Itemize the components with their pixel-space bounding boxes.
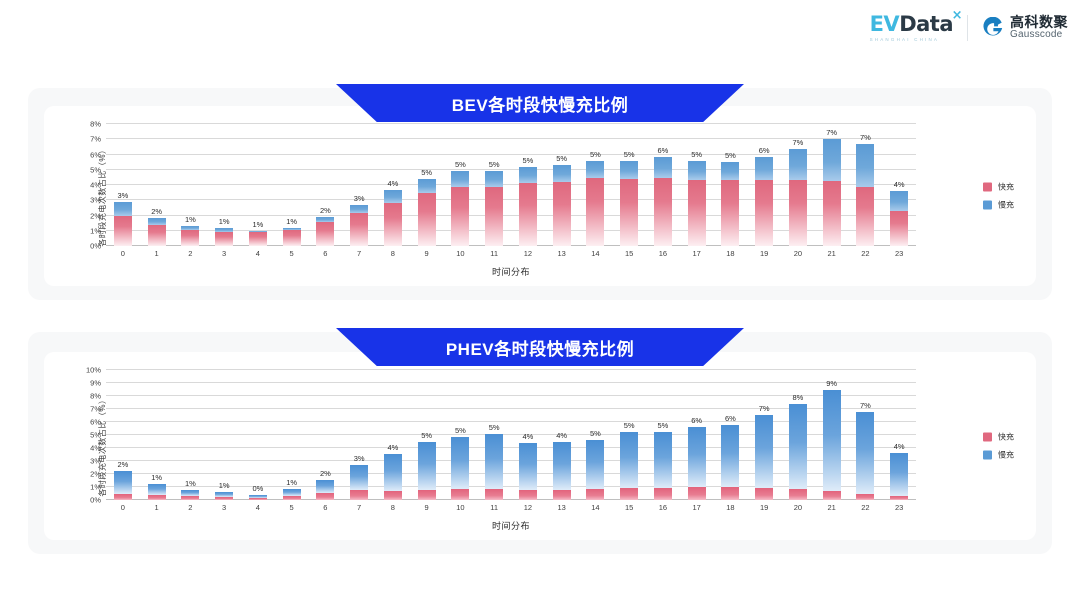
bar-column[interactable]: 0% xyxy=(241,370,275,500)
y-axis-tick: 10% xyxy=(86,366,101,375)
legend-item[interactable]: 慢充 xyxy=(983,200,1014,211)
x-axis-tick: 3 xyxy=(207,503,241,519)
bar-segment-fast-charge[interactable] xyxy=(586,489,604,500)
bar-data-label: 7% xyxy=(792,138,803,147)
bar-segment-fast-charge[interactable] xyxy=(890,211,908,246)
bar-segment-fast-charge[interactable] xyxy=(384,491,402,500)
x-axis-tick: 7 xyxy=(342,503,376,519)
banner-phev-title: PHEV各时段快慢充比例 xyxy=(446,335,634,360)
x-axis-tick: 9 xyxy=(410,503,444,519)
y-axis-tick: 0% xyxy=(90,496,101,505)
x-axis-tick: 23 xyxy=(882,503,916,519)
legend-label: 慢充 xyxy=(998,450,1014,461)
bar-column[interactable]: 3% xyxy=(106,124,140,246)
x-axis-tick: 4 xyxy=(241,249,275,265)
bar-column[interactable]: 2% xyxy=(309,124,343,246)
bar-column[interactable]: 5% xyxy=(444,370,478,500)
bar-segment-fast-charge[interactable] xyxy=(755,180,773,246)
stacked-bar[interactable]: 5% xyxy=(654,432,672,500)
bar-data-label: 1% xyxy=(219,481,230,490)
y-axis-tick: 5% xyxy=(90,431,101,440)
bar-data-label: 2% xyxy=(320,206,331,215)
stacked-bar[interactable]: 6% xyxy=(654,157,672,246)
stacked-bar[interactable]: 1% xyxy=(181,490,199,500)
evdata-logo: EVData× shanghai china xyxy=(870,14,953,42)
x-axis-tick: 9 xyxy=(410,249,444,265)
bar-data-label: 6% xyxy=(759,146,770,155)
bar-data-label: 6% xyxy=(725,414,736,423)
bar-data-label: 1% xyxy=(219,217,230,226)
stacked-bar[interactable]: 6% xyxy=(721,425,739,500)
bar-column[interactable]: 7% xyxy=(781,124,815,246)
bar-data-label: 5% xyxy=(489,423,500,432)
stacked-bar[interactable]: 1% xyxy=(283,228,301,246)
bar-segment-fast-charge[interactable] xyxy=(451,187,469,246)
x-axis-tick: 20 xyxy=(781,503,815,519)
bar-column[interactable]: 3% xyxy=(342,124,376,246)
bar-segment-fast-charge[interactable] xyxy=(654,178,672,246)
legend-label: 快充 xyxy=(998,432,1014,443)
bar-data-label: 1% xyxy=(151,473,162,482)
bar-column[interactable]: 1% xyxy=(174,370,208,500)
bar-segment-fast-charge[interactable] xyxy=(890,496,908,500)
bar-data-label: 5% xyxy=(455,160,466,169)
bar-column[interactable]: 2% xyxy=(140,124,174,246)
bar-column[interactable]: 5% xyxy=(477,124,511,246)
bar-segment-fast-charge[interactable] xyxy=(148,225,166,246)
bar-segment-slow-charge[interactable] xyxy=(418,179,436,193)
bar-segment-fast-charge[interactable] xyxy=(856,187,874,246)
bar-column[interactable]: 1% xyxy=(140,370,174,500)
bar-segment-fast-charge[interactable] xyxy=(586,178,604,246)
bar-segment-slow-charge[interactable] xyxy=(823,390,841,491)
x-axis-tick: 11 xyxy=(477,249,511,265)
stacked-bar[interactable]: 5% xyxy=(418,179,436,246)
x-axis-tick: 8 xyxy=(376,503,410,519)
x-axis-tick: 1 xyxy=(140,249,174,265)
chart-phev-legend: 快充慢充 xyxy=(983,432,1014,461)
bar-segment-fast-charge[interactable] xyxy=(181,496,199,500)
bar-segment-slow-charge[interactable] xyxy=(721,162,739,180)
stacked-bar[interactable]: 1% xyxy=(283,489,301,500)
bar-segment-fast-charge[interactable] xyxy=(688,180,706,246)
bar-column[interactable]: 5% xyxy=(410,124,444,246)
bar-segment-fast-charge[interactable] xyxy=(553,182,571,246)
bar-segment-fast-charge[interactable] xyxy=(688,487,706,500)
bar-segment-fast-charge[interactable] xyxy=(249,498,267,500)
stacked-bar[interactable]: 4% xyxy=(553,442,571,501)
bar-segment-slow-charge[interactable] xyxy=(890,191,908,211)
stacked-bar[interactable]: 4% xyxy=(519,443,537,500)
bar-column[interactable]: 7% xyxy=(747,370,781,500)
bar-column[interactable]: 5% xyxy=(680,124,714,246)
bar-data-label: 5% xyxy=(590,429,601,438)
legend-swatch-icon xyxy=(983,451,992,460)
bar-segment-fast-charge[interactable] xyxy=(418,490,436,500)
bar-segment-slow-charge[interactable] xyxy=(755,157,773,181)
chart-bev-bars: 3%2%1%1%1%1%2%3%4%5%5%5%5%5%5%5%6%5%5%6%… xyxy=(106,124,916,246)
x-axis-tick: 6 xyxy=(309,503,343,519)
chart-phev-plot-area: 0%1%2%3%4%5%6%7%8%9%10% 2%1%1%1%0%1%2%3%… xyxy=(106,370,916,500)
x-axis-tick: 0 xyxy=(106,503,140,519)
stacked-bar[interactable]: 7% xyxy=(856,144,874,246)
stacked-bar[interactable]: 2% xyxy=(114,471,132,500)
bar-segment-slow-charge[interactable] xyxy=(789,149,807,180)
bar-column[interactable]: 5% xyxy=(714,124,748,246)
stacked-bar[interactable]: 5% xyxy=(451,171,469,246)
chart-phev-x-axis-label: 时间分布 xyxy=(106,519,916,532)
x-axis-tick: 18 xyxy=(714,503,748,519)
x-axis-tick: 22 xyxy=(849,503,883,519)
bar-column[interactable]: 5% xyxy=(410,370,444,500)
bar-data-label: 9% xyxy=(826,379,837,388)
bar-column[interactable]: 7% xyxy=(849,124,883,246)
gausscode-text: 高科数聚 Gausscode xyxy=(1010,15,1068,40)
bar-segment-fast-charge[interactable] xyxy=(350,490,368,500)
bar-segment-slow-charge[interactable] xyxy=(283,489,301,496)
bar-segment-slow-charge[interactable] xyxy=(148,484,166,495)
bar-column[interactable]: 4% xyxy=(376,124,410,246)
bar-segment-fast-charge[interactable] xyxy=(823,491,841,500)
y-axis-tick: 9% xyxy=(90,379,101,388)
y-axis-tick: 6% xyxy=(90,418,101,427)
bar-segment-fast-charge[interactable] xyxy=(451,489,469,500)
bar-segment-slow-charge[interactable] xyxy=(890,453,908,496)
bar-segment-slow-charge[interactable] xyxy=(316,480,334,493)
bar-segment-fast-charge[interactable] xyxy=(654,488,672,500)
bar-segment-fast-charge[interactable] xyxy=(620,179,638,246)
chart-bev-plot-area: 0%1%2%3%4%5%6%7%8% 3%2%1%1%1%1%2%3%4%5%5… xyxy=(106,124,916,246)
bar-data-label: 5% xyxy=(421,168,432,177)
x-axis-tick: 20 xyxy=(781,249,815,265)
bar-segment-slow-charge[interactable] xyxy=(654,157,672,178)
bar-segment-fast-charge[interactable] xyxy=(789,489,807,500)
bar-segment-slow-charge[interactable] xyxy=(485,434,503,489)
bar-segment-fast-charge[interactable] xyxy=(316,493,334,500)
stacked-bar[interactable]: 5% xyxy=(586,440,604,500)
stacked-bar[interactable]: 0% xyxy=(249,495,267,500)
evdata-ev-text: EV xyxy=(870,12,900,36)
stacked-bar[interactable]: 7% xyxy=(823,139,841,246)
stacked-bar[interactable]: 2% xyxy=(148,218,166,246)
x-axis-tick: 16 xyxy=(646,249,680,265)
bar-data-label: 5% xyxy=(725,151,736,160)
evdata-wordmark: EVData× xyxy=(870,14,953,35)
bar-segment-fast-charge[interactable] xyxy=(114,494,132,500)
bar-segment-fast-charge[interactable] xyxy=(283,230,301,246)
x-axis-tick: 5 xyxy=(275,503,309,519)
bar-segment-fast-charge[interactable] xyxy=(856,494,874,501)
bar-column[interactable]: 4% xyxy=(376,370,410,500)
bar-column[interactable]: 5% xyxy=(579,124,613,246)
bar-column[interactable]: 6% xyxy=(747,124,781,246)
stacked-bar[interactable]: 5% xyxy=(485,171,503,246)
bar-segment-fast-charge[interactable] xyxy=(755,488,773,500)
bar-segment-slow-charge[interactable] xyxy=(451,171,469,187)
bar-segment-slow-charge[interactable] xyxy=(350,465,368,490)
x-axis-tick: 2 xyxy=(174,503,208,519)
bar-segment-fast-charge[interactable] xyxy=(283,496,301,500)
stacked-bar[interactable]: 1% xyxy=(215,492,233,500)
bar-segment-slow-charge[interactable] xyxy=(485,171,503,187)
bar-segment-slow-charge[interactable] xyxy=(620,432,638,488)
bar-segment-fast-charge[interactable] xyxy=(181,230,199,246)
bar-segment-slow-charge[interactable] xyxy=(384,454,402,491)
bar-segment-fast-charge[interactable] xyxy=(721,180,739,246)
bar-segment-fast-charge[interactable] xyxy=(350,213,368,246)
bar-segment-fast-charge[interactable] xyxy=(519,490,537,500)
bar-segment-fast-charge[interactable] xyxy=(215,232,233,246)
bar-column[interactable]: 3% xyxy=(342,370,376,500)
bar-column[interactable]: 4% xyxy=(882,124,916,246)
gausscode-g-mark-icon xyxy=(982,17,1004,39)
bar-segment-slow-charge[interactable] xyxy=(553,442,571,490)
bar-segment-fast-charge[interactable] xyxy=(823,181,841,246)
gausscode-chinese-name: 高科数聚 xyxy=(1010,15,1068,30)
bar-segment-slow-charge[interactable] xyxy=(688,427,706,487)
stacked-bar[interactable]: 2% xyxy=(316,217,334,246)
bar-column[interactable]: 6% xyxy=(714,370,748,500)
x-axis-tick: 2 xyxy=(174,249,208,265)
bar-segment-slow-charge[interactable] xyxy=(519,167,537,183)
bar-segment-slow-charge[interactable] xyxy=(553,165,571,182)
chart-bev-x-axis-label: 时间分布 xyxy=(106,265,916,278)
bar-column[interactable]: 6% xyxy=(646,124,680,246)
stacked-bar[interactable]: 8% xyxy=(789,404,807,500)
bar-column[interactable]: 4% xyxy=(882,370,916,500)
x-axis-tick: 12 xyxy=(511,503,545,519)
x-axis-tick: 18 xyxy=(714,249,748,265)
bar-data-label: 2% xyxy=(151,207,162,216)
x-axis-tick: 16 xyxy=(646,503,680,519)
bar-data-label: 1% xyxy=(252,220,263,229)
bar-segment-fast-charge[interactable] xyxy=(148,495,166,500)
bar-segment-slow-charge[interactable] xyxy=(654,432,672,488)
stacked-bar[interactable]: 1% xyxy=(215,228,233,246)
stacked-bar[interactable]: 3% xyxy=(350,205,368,246)
bar-segment-slow-charge[interactable] xyxy=(755,415,773,488)
stacked-bar[interactable]: 1% xyxy=(148,484,166,500)
bar-segment-slow-charge[interactable] xyxy=(114,202,132,216)
bar-column[interactable]: 5% xyxy=(511,124,545,246)
stacked-bar[interactable]: 2% xyxy=(316,480,334,500)
stacked-bar[interactable]: 5% xyxy=(620,432,638,500)
bar-column[interactable]: 1% xyxy=(241,124,275,246)
stacked-bar[interactable]: 4% xyxy=(890,191,908,246)
stacked-bar[interactable]: 5% xyxy=(519,167,537,246)
bar-segment-slow-charge[interactable] xyxy=(823,139,841,181)
evdata-tagline: shanghai china xyxy=(870,37,940,42)
bar-data-label: 4% xyxy=(387,443,398,452)
bar-data-label: 5% xyxy=(657,421,668,430)
bar-column[interactable]: 4% xyxy=(511,370,545,500)
y-axis-tick: 4% xyxy=(90,181,101,190)
stacked-bar[interactable]: 7% xyxy=(789,149,807,246)
gausscode-english-name: Gausscode xyxy=(1010,30,1068,41)
bar-segment-slow-charge[interactable] xyxy=(451,437,469,489)
x-axis-tick: 10 xyxy=(444,249,478,265)
x-axis-tick: 22 xyxy=(849,249,883,265)
y-axis-tick: 2% xyxy=(90,470,101,479)
bar-segment-slow-charge[interactable] xyxy=(519,443,537,490)
stacked-bar[interactable]: 6% xyxy=(755,157,773,246)
y-axis-tick: 1% xyxy=(90,226,101,235)
y-axis-tick: 7% xyxy=(90,135,101,144)
bar-column[interactable]: 6% xyxy=(680,370,714,500)
bar-column[interactable]: 9% xyxy=(815,370,849,500)
bar-segment-slow-charge[interactable] xyxy=(721,425,739,487)
bar-data-label: 3% xyxy=(354,454,365,463)
bar-segment-fast-charge[interactable] xyxy=(721,487,739,500)
legend-item[interactable]: 快充 xyxy=(983,182,1014,193)
bar-column[interactable]: 5% xyxy=(612,124,646,246)
bar-column[interactable]: 5% xyxy=(444,124,478,246)
evdata-cross-icon: × xyxy=(952,9,962,22)
banner-bev: BEV各时段快慢充比例 xyxy=(336,84,744,122)
legend-item[interactable]: 快充 xyxy=(983,432,1014,443)
stacked-bar[interactable]: 4% xyxy=(384,190,402,246)
stacked-bar[interactable]: 1% xyxy=(249,231,267,246)
bar-data-label: 5% xyxy=(590,150,601,159)
stacked-bar[interactable]: 3% xyxy=(350,465,368,500)
stacked-bar[interactable]: 6% xyxy=(688,427,706,500)
bar-column[interactable]: 5% xyxy=(477,370,511,500)
legend-swatch-icon xyxy=(983,183,992,192)
bar-segment-slow-charge[interactable] xyxy=(789,404,807,489)
x-axis-tick: 4 xyxy=(241,503,275,519)
y-axis-tick: 3% xyxy=(90,457,101,466)
bar-segment-slow-charge[interactable] xyxy=(586,440,604,489)
bar-segment-slow-charge[interactable] xyxy=(114,471,132,494)
x-axis-tick: 23 xyxy=(882,249,916,265)
bar-segment-slow-charge[interactable] xyxy=(586,161,604,178)
x-axis-tick: 13 xyxy=(545,503,579,519)
x-axis-tick: 13 xyxy=(545,249,579,265)
stacked-bar[interactable]: 5% xyxy=(721,162,739,246)
chart-phev-x-ticks: 01234567891011121314151617181920212223 xyxy=(106,503,916,519)
bar-column[interactable]: 5% xyxy=(579,370,613,500)
x-axis-tick: 21 xyxy=(815,249,849,265)
bar-data-label: 4% xyxy=(556,431,567,440)
x-axis-tick: 15 xyxy=(612,249,646,265)
bar-segment-slow-charge[interactable] xyxy=(856,412,874,493)
brand-logo-row: EVData× shanghai china 高科数聚 Gausscode xyxy=(870,14,1068,42)
banner-phev: PHEV各时段快慢充比例 xyxy=(336,328,744,366)
stacked-bar[interactable]: 5% xyxy=(451,437,469,500)
bar-data-label: 5% xyxy=(421,431,432,440)
y-axis-tick: 0% xyxy=(90,242,101,251)
x-axis-tick: 14 xyxy=(579,249,613,265)
bar-segment-fast-charge[interactable] xyxy=(249,232,267,246)
bar-segment-fast-charge[interactable] xyxy=(519,183,537,246)
bar-segment-fast-charge[interactable] xyxy=(114,216,132,246)
bar-data-label: 1% xyxy=(185,479,196,488)
stacked-bar[interactable]: 5% xyxy=(418,442,436,501)
legend-swatch-icon xyxy=(983,201,992,210)
bar-segment-slow-charge[interactable] xyxy=(384,190,402,202)
stacked-bar[interactable]: 9% xyxy=(823,390,841,500)
bar-column[interactable]: 5% xyxy=(545,124,579,246)
bar-segment-slow-charge[interactable] xyxy=(418,442,436,490)
bar-segment-fast-charge[interactable] xyxy=(620,488,638,500)
bar-data-label: 7% xyxy=(860,133,871,142)
stacked-bar[interactable]: 7% xyxy=(755,415,773,500)
stacked-bar[interactable]: 4% xyxy=(890,453,908,500)
bar-segment-fast-charge[interactable] xyxy=(553,490,571,500)
bar-data-label: 4% xyxy=(387,179,398,188)
bar-segment-fast-charge[interactable] xyxy=(418,193,436,246)
bar-data-label: 1% xyxy=(185,215,196,224)
bar-column[interactable]: 1% xyxy=(275,124,309,246)
bar-column[interactable]: 2% xyxy=(106,370,140,500)
legend-item[interactable]: 慢充 xyxy=(983,450,1014,461)
bar-segment-slow-charge[interactable] xyxy=(688,161,706,179)
stacked-bar[interactable]: 5% xyxy=(485,434,503,500)
bar-column[interactable]: 5% xyxy=(646,370,680,500)
bar-segment-fast-charge[interactable] xyxy=(316,222,334,246)
bar-column[interactable]: 1% xyxy=(275,370,309,500)
bar-column[interactable]: 7% xyxy=(815,124,849,246)
bar-data-label: 2% xyxy=(320,469,331,478)
legend-label: 慢充 xyxy=(998,200,1014,211)
stacked-bar[interactable]: 4% xyxy=(384,454,402,500)
bar-column[interactable]: 2% xyxy=(309,370,343,500)
y-axis-tick: 5% xyxy=(90,165,101,174)
stacked-bar[interactable]: 5% xyxy=(553,165,571,246)
bar-column[interactable]: 1% xyxy=(207,370,241,500)
bar-data-label: 5% xyxy=(522,156,533,165)
bar-data-label: 5% xyxy=(624,421,635,430)
bar-column[interactable]: 1% xyxy=(207,124,241,246)
chart-phev-bars: 2%1%1%1%0%1%2%3%4%5%5%5%4%4%5%5%5%6%6%7%… xyxy=(106,370,916,500)
bar-column[interactable]: 8% xyxy=(781,370,815,500)
stacked-bar[interactable]: 5% xyxy=(620,161,638,246)
bar-segment-slow-charge[interactable] xyxy=(620,161,638,179)
stacked-bar[interactable]: 7% xyxy=(856,412,874,500)
bar-segment-slow-charge[interactable] xyxy=(856,144,874,187)
banner-bev-title: BEV各时段快慢充比例 xyxy=(452,91,628,116)
bar-data-label: 6% xyxy=(657,146,668,155)
bar-segment-fast-charge[interactable] xyxy=(789,180,807,246)
bar-column[interactable]: 4% xyxy=(545,370,579,500)
bar-segment-fast-charge[interactable] xyxy=(485,489,503,500)
x-axis-tick: 15 xyxy=(612,503,646,519)
stacked-bar[interactable]: 5% xyxy=(688,161,706,246)
bar-data-label: 4% xyxy=(522,432,533,441)
stacked-bar[interactable]: 3% xyxy=(114,202,132,246)
x-axis-tick: 19 xyxy=(747,249,781,265)
bar-column[interactable]: 5% xyxy=(612,370,646,500)
bar-data-label: 7% xyxy=(860,401,871,410)
stacked-bar[interactable]: 1% xyxy=(181,226,199,246)
bar-data-label: 7% xyxy=(759,404,770,413)
bar-segment-slow-charge[interactable] xyxy=(350,205,368,213)
logo-divider xyxy=(967,15,968,41)
bar-data-label: 5% xyxy=(556,154,567,163)
bar-segment-fast-charge[interactable] xyxy=(215,497,233,500)
bar-segment-slow-charge[interactable] xyxy=(148,218,166,225)
bar-segment-fast-charge[interactable] xyxy=(485,187,503,246)
bar-column[interactable]: 7% xyxy=(849,370,883,500)
gausscode-logo: 高科数聚 Gausscode xyxy=(982,15,1068,40)
stacked-bar[interactable]: 5% xyxy=(586,161,604,246)
y-axis-tick: 4% xyxy=(90,444,101,453)
bar-data-label: 5% xyxy=(624,150,635,159)
bar-segment-fast-charge[interactable] xyxy=(384,203,402,246)
chart-card-bev: 各时段充电次数占比（%） 0%1%2%3%4%5%6%7%8% 3%2%1%1%… xyxy=(44,106,1036,286)
bar-column[interactable]: 1% xyxy=(174,124,208,246)
bar-data-label: 8% xyxy=(792,393,803,402)
